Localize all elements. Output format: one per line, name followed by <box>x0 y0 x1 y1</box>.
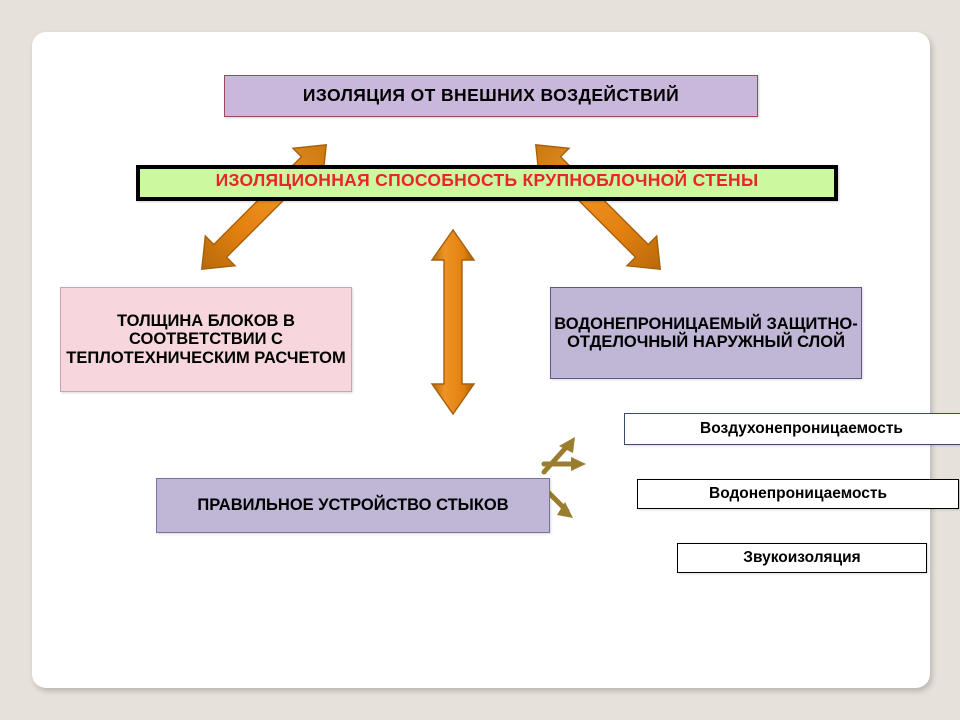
property-box-sound-insulation: Звукоизоляция <box>677 543 927 573</box>
factor-box-thickness: ТОЛЩИНА БЛОКОВ В СООТВЕТСТВИИ С ТЕПЛОТЕХ… <box>60 287 352 392</box>
slide-panel: ИЗОЛЯЦИЯ ОТ ВНЕШНИХ ВОЗДЕЙСТВИЙ ИЗОЛЯЦИО… <box>32 32 930 688</box>
arrow-to-water <box>544 457 586 471</box>
arrow-vertical <box>432 230 474 414</box>
property-box-air-permeability: Воздухонепроницаемость <box>624 413 960 445</box>
factor-box-joints: ПРАВИЛЬНОЕ УСТРОЙСТВО СТЫКОВ <box>156 478 550 533</box>
page-title: ИЗОЛЯЦИЯ ОТ ВНЕШНИХ ВОЗДЕЙСТВИЙ <box>224 75 758 117</box>
arrow-to-air <box>544 437 575 472</box>
arrow-left-diagonal <box>187 130 341 284</box>
factor-box-outer-layer: ВОДОНЕПРОНИЦАЕМЫЙ ЗАЩИТНО-ОТДЕЛОЧНЫЙ НАР… <box>550 287 862 379</box>
main-concept-label: ИЗОЛЯЦИОННАЯ СПОСОБНОСТЬ КРУПНОБЛОЧНОЙ С… <box>140 170 834 190</box>
arrow-right-diagonal <box>521 130 675 284</box>
main-concept-box: ИЗОЛЯЦИОННАЯ СПОСОБНОСТЬ КРУПНОБЛОЧНОЙ С… <box>136 165 838 201</box>
property-box-water-permeability: Водонепроницаемость <box>637 479 959 509</box>
